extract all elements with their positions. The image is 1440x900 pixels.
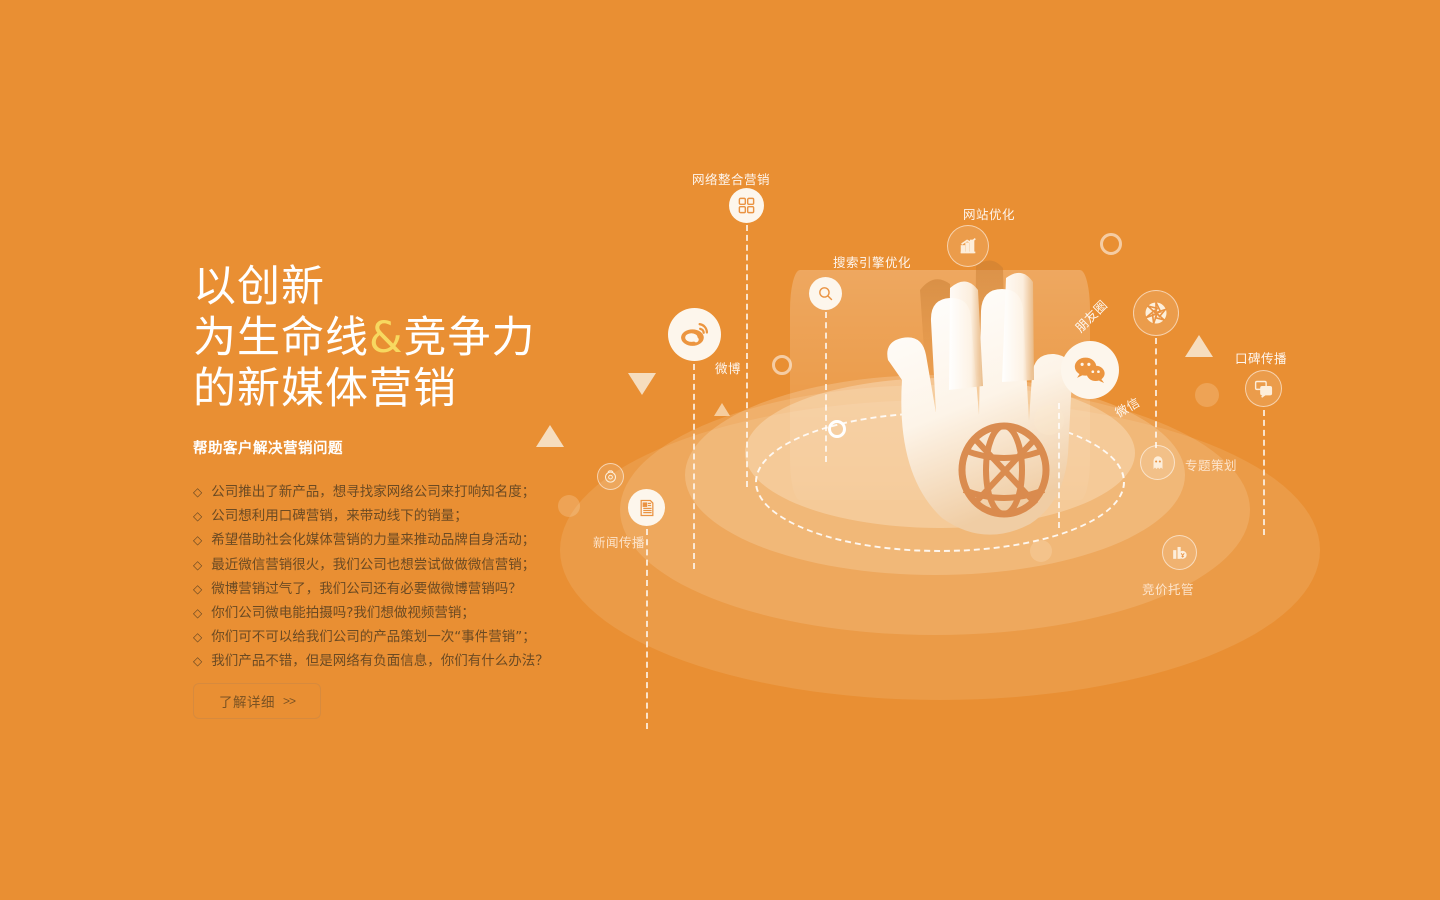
hero-stage: 以创新 为生命线&竞争力 的新媒体营销 帮助客户解决营销问题 ◇公司推出了新产品… <box>0 0 1440 900</box>
list-item-label: 希望借助社会化媒体营销的力量来推动品牌自身活动； <box>211 528 535 552</box>
marketing-illustration: 网络整合营销 搜索引擎优化 网站优化 <box>540 120 1440 740</box>
diamond-icon: ◇ <box>193 577 202 601</box>
connector-line <box>1058 403 1060 528</box>
wechat-icon[interactable] <box>1061 341 1119 399</box>
service-node-news[interactable]: 新闻传播 <box>628 489 665 526</box>
service-node-reputation[interactable]: 口碑传播 <box>1245 370 1282 407</box>
service-node-website[interactable]: 网站优化 <box>947 225 989 267</box>
book-icon[interactable] <box>1140 445 1175 480</box>
service-node-moments[interactable]: 朋友圈 <box>1133 290 1179 336</box>
service-node-seo[interactable]: 搜索引擎优化 <box>809 277 842 310</box>
service-label: 新闻传播 <box>593 532 645 551</box>
search-icon[interactable] <box>809 277 842 310</box>
circle-ring-decor-3 <box>828 420 846 438</box>
service-label: 竞价托管 <box>1142 579 1194 598</box>
aperture-icon[interactable] <box>1133 290 1179 336</box>
connector-line <box>1155 338 1157 448</box>
connector-line <box>825 312 827 462</box>
service-label: 口碑传播 <box>1235 348 1287 367</box>
diamond-icon: ◇ <box>193 649 202 673</box>
diamond-icon: ◇ <box>193 601 202 625</box>
list-item-label: 最近微信营销很火，我们公司也想尝试做做微信营销； <box>211 553 535 577</box>
list-item-label: 我们产品不错，但是网络有负面信息，你们有什么办法？ <box>211 649 549 673</box>
service-label: 专题策划 <box>1185 455 1237 474</box>
connector-line <box>1263 410 1265 535</box>
weibo-icon[interactable] <box>668 308 721 361</box>
list-item-label: 公司想利用口碑营销，来带动线下的销量； <box>211 504 468 528</box>
service-node-bidding[interactable]: 竞价托管 <box>1162 535 1197 570</box>
service-node-weibo[interactable]: 微博 <box>668 308 721 361</box>
service-label: 网络整合营销 <box>692 169 770 188</box>
diamond-icon: ◇ <box>193 504 202 528</box>
headline-line-2-a: 为生命线 <box>193 313 369 363</box>
service-node-wechat[interactable]: 微信 <box>1061 341 1119 399</box>
news-icon[interactable] <box>628 489 665 526</box>
diamond-icon: ◇ <box>193 480 202 504</box>
connector-line <box>646 529 648 729</box>
service-node-wangluo[interactable]: 网络整合营销 <box>729 188 764 223</box>
compass-icon-decor <box>597 463 624 490</box>
triangle-up-decor-left <box>536 425 564 447</box>
headline-line-2-b: 竞争力 <box>404 313 536 363</box>
diamond-icon: ◇ <box>193 553 202 577</box>
list-item-label: 微博营销过气了，我们公司还有必要做微博营销吗？ <box>211 577 522 601</box>
connector-line <box>746 225 748 487</box>
chat-bubbles-icon[interactable] <box>1245 370 1282 407</box>
learn-more-label: 了解详细 <box>219 691 275 711</box>
triangle-up-small-decor <box>714 403 730 416</box>
list-item-label: 你们公司微电能拍摄吗?我们想做视频营销； <box>211 601 475 625</box>
learn-more-button[interactable]: 了解详细 >> <box>193 683 321 719</box>
circle-ring-decor-1 <box>772 355 792 375</box>
bid-coin-icon[interactable] <box>1162 535 1197 570</box>
list-item-label: 你们可不可以给我们公司的产品策划一次“事件营销”； <box>211 625 536 649</box>
connector-line <box>693 364 695 569</box>
triangle-up-decor-right <box>1185 335 1213 357</box>
triangle-down-decor <box>628 373 656 395</box>
service-label: 搜索引擎优化 <box>833 252 911 271</box>
circle-dot-decor-1 <box>558 495 580 517</box>
service-node-topic[interactable]: 专题策划 <box>1140 445 1175 480</box>
headline-ampersand: & <box>369 313 404 363</box>
grid-icon[interactable] <box>729 188 764 223</box>
chevron-right-icon: >> <box>283 694 295 708</box>
service-label: 微博 <box>715 358 741 377</box>
circle-dot-decor-4 <box>1030 540 1052 562</box>
circle-ring-decor-2 <box>1100 233 1122 255</box>
diamond-icon: ◇ <box>193 625 202 649</box>
diamond-icon: ◇ <box>193 528 202 552</box>
circle-dot-decor-3 <box>1195 383 1219 407</box>
service-label: 网站优化 <box>963 204 1015 223</box>
list-item-label: 公司推出了新产品，想寻找家网络公司来打响知名度； <box>211 480 535 504</box>
bar-chart-icon[interactable] <box>947 225 989 267</box>
